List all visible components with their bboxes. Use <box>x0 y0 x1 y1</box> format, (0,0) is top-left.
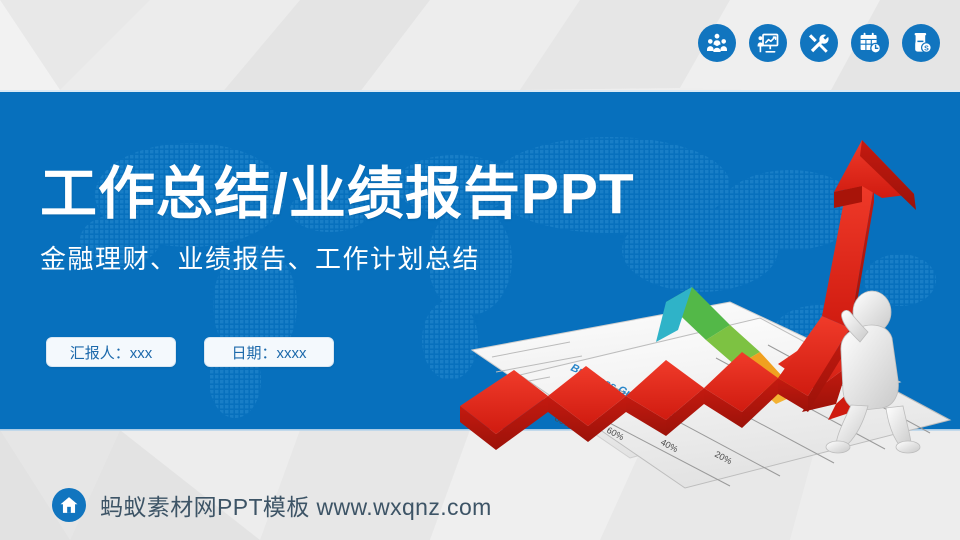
footer: 蚂蚁素材网PPT模板 www.wxqnz.com <box>52 488 492 522</box>
presentation-chart-icon[interactable] <box>749 24 787 62</box>
page-title: 工作总结/业绩报告PPT <box>40 165 635 225</box>
footer-text: 蚂蚁素材网PPT模板 www.wxqnz.com <box>100 488 492 522</box>
home-icon <box>52 488 86 522</box>
title-block: 工作总结/业绩报告PPT 金融理财、业绩报告、工作计划总结 <box>40 165 635 276</box>
meta-pill-row: 汇报人：xxx 日期：xxxx <box>46 337 334 367</box>
money-dollar-icon[interactable]: S <box>902 24 940 62</box>
page-subtitle: 金融理财、业绩报告、工作计划总结 <box>40 239 635 276</box>
presenter-pill[interactable]: 汇报人：xxx <box>46 337 176 367</box>
band-top-divider <box>0 90 960 92</box>
calendar-clock-icon[interactable] <box>851 24 889 62</box>
date-pill[interactable]: 日期：xxxx <box>204 337 334 367</box>
tools-wrench-screwdriver-icon[interactable] <box>800 24 838 62</box>
svg-text:S: S <box>924 45 929 52</box>
top-icon-row: S <box>698 24 940 62</box>
team-people-icon[interactable] <box>698 24 736 62</box>
slide-root: S <box>0 0 960 540</box>
